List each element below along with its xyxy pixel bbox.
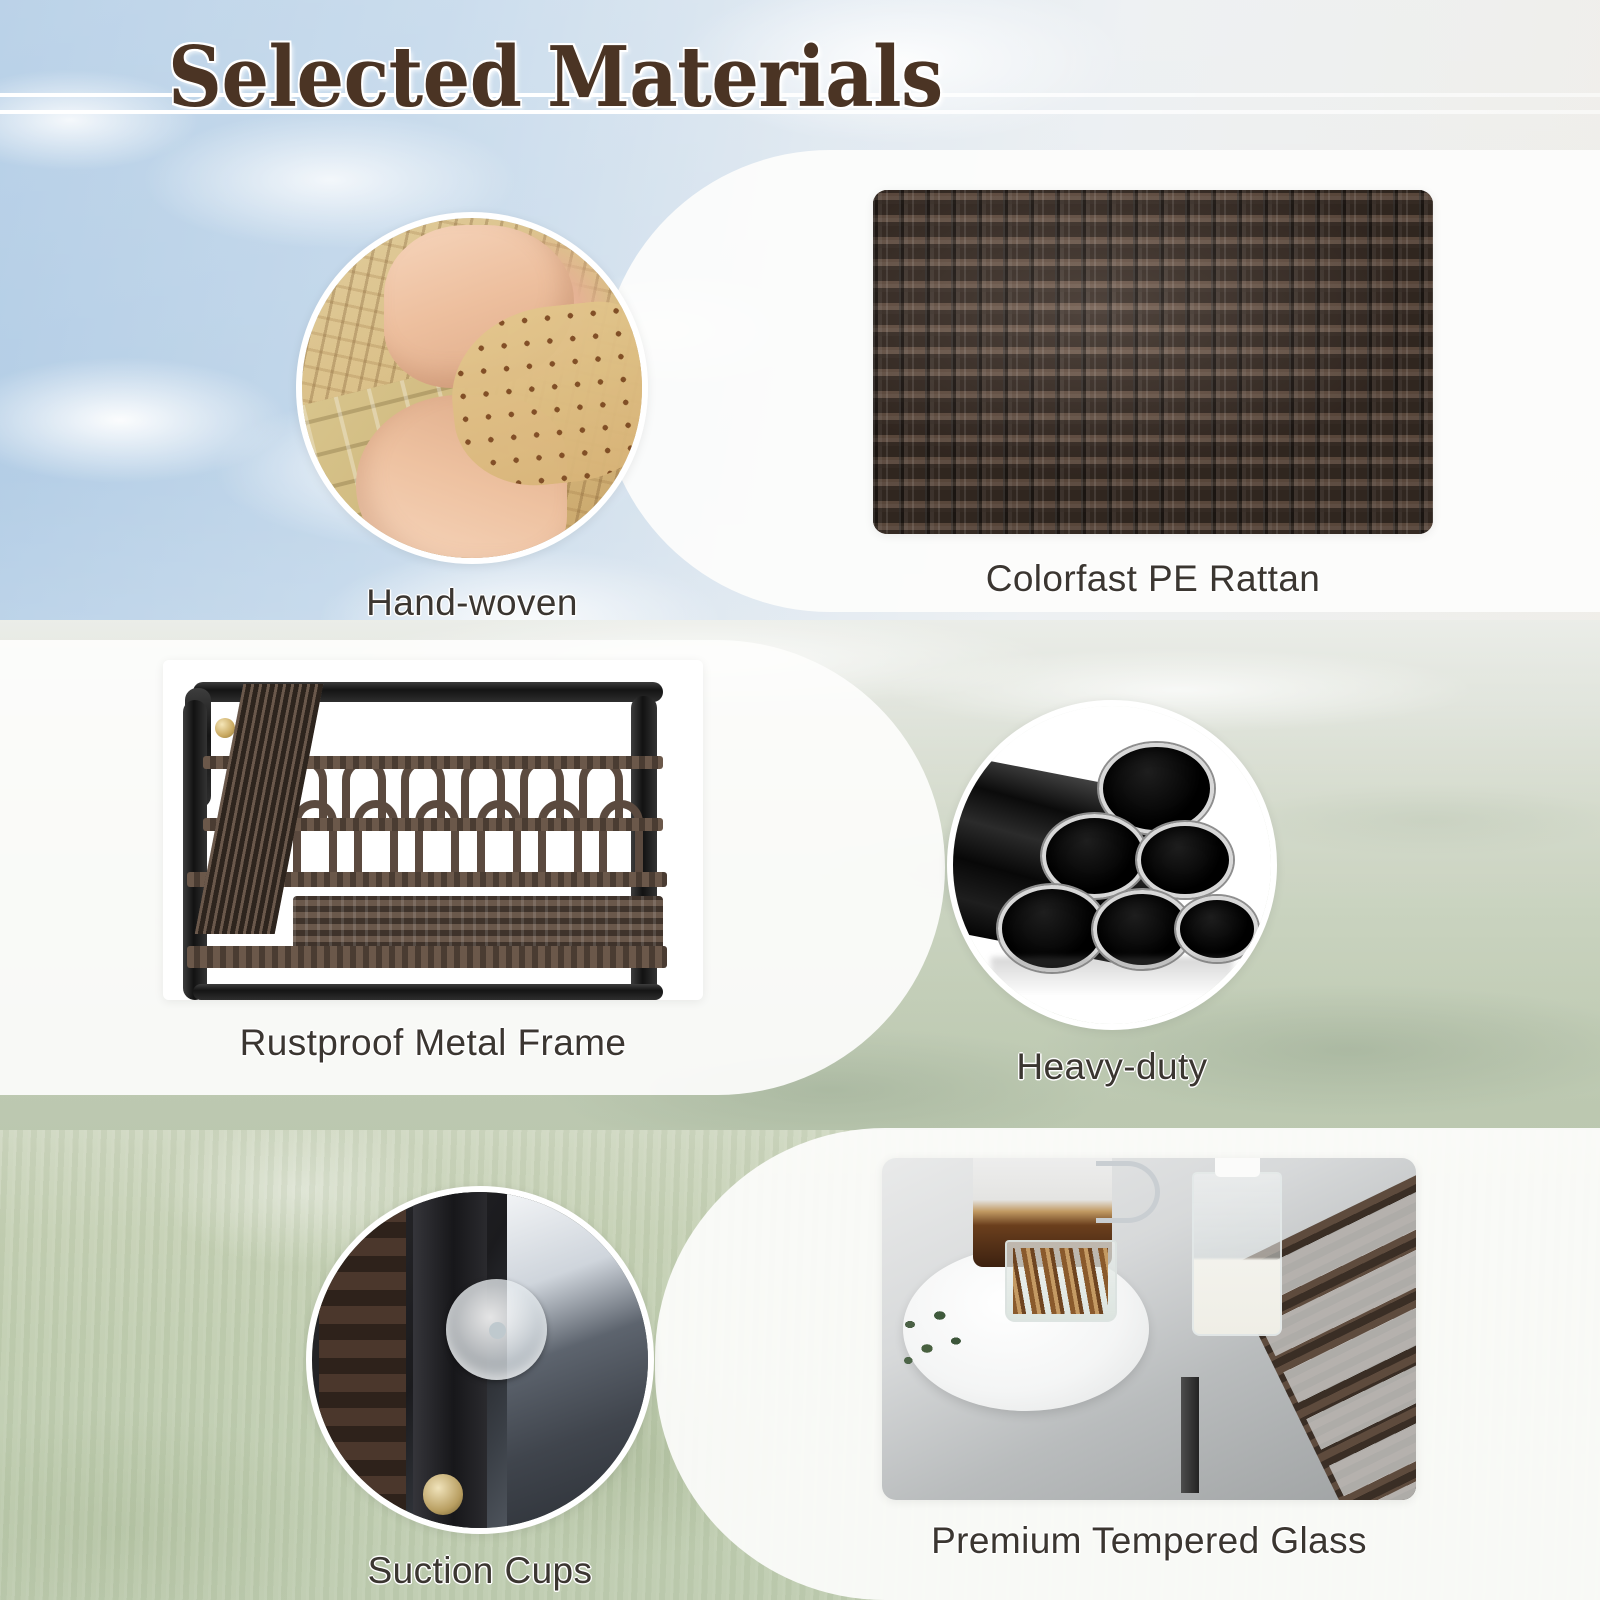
heavy-duty-label: Heavy-duty [942, 1046, 1282, 1088]
feature-hand-woven: Hand-woven [292, 212, 652, 624]
hand-woven-label: Hand-woven [292, 582, 652, 624]
page-title: Selected Materials [168, 36, 943, 119]
pe-rattan-label: Colorfast PE Rattan [873, 558, 1433, 600]
suction-cups-photo [306, 1186, 654, 1534]
pe-rattan-photo [873, 190, 1433, 534]
feature-premium-tempered-glass: Premium Tempered Glass [882, 1158, 1416, 1562]
feature-rustproof-metal-frame: Rustproof Metal Frame [163, 660, 703, 1064]
feature-heavy-duty: Heavy-duty [942, 700, 1282, 1088]
tempered-glass-label: Premium Tempered Glass [882, 1520, 1416, 1562]
tempered-glass-photo [882, 1158, 1416, 1500]
feature-suction-cups: Suction Cups [302, 1186, 658, 1592]
suction-cups-label: Suction Cups [302, 1550, 658, 1592]
metal-frame-photo [163, 660, 703, 1000]
metal-frame-label: Rustproof Metal Frame [163, 1022, 703, 1064]
hand-woven-photo [296, 212, 648, 564]
heavy-duty-photo [947, 700, 1277, 1030]
feature-colorfast-pe-rattan: Colorfast PE Rattan [873, 190, 1433, 600]
poster-canvas: Selected Materials Hand-woven Colorfast … [0, 0, 1600, 1600]
